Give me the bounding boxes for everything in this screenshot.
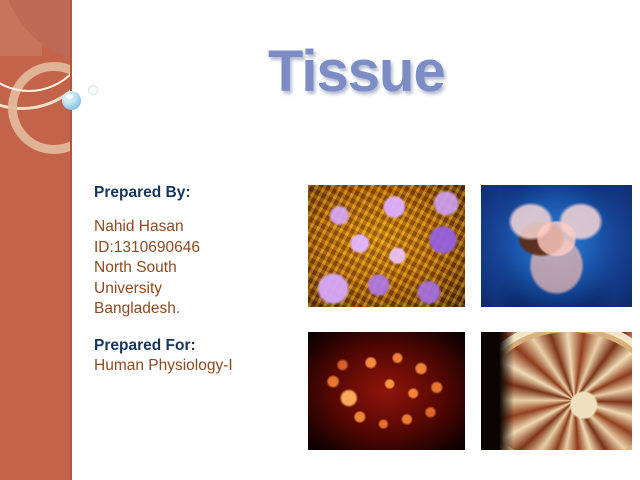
prepared-by-label: Prepared By:: [94, 182, 289, 203]
spacer: [94, 320, 289, 335]
author-id: ID:1310690646: [94, 238, 289, 258]
country-line: Bangladesh.: [94, 299, 289, 319]
thin-ring-arc-icon: [0, 0, 72, 92]
prepared-for-label: Prepared For:: [94, 335, 289, 356]
spacer: [94, 203, 289, 217]
image-grid: [308, 185, 632, 450]
band-edge-line: [70, 0, 72, 480]
image-content: [308, 185, 465, 307]
image-histology-cross-section-nerve-bundle: [481, 332, 632, 450]
sphere-highlight: [66, 94, 73, 99]
page-title: Tissue: [268, 42, 508, 103]
left-decorative-band: [0, 0, 72, 480]
image-anatomical-torso-organs-render: [481, 185, 632, 307]
image-red-blood-cells-dark-field: [308, 332, 465, 450]
image-content: [481, 332, 632, 450]
image-content: [481, 185, 632, 307]
university-line-2: University: [94, 279, 289, 299]
image-content: [308, 332, 465, 450]
university-line-1: North South: [94, 258, 289, 278]
image-fluorescence-stained-epithelial-cells: [308, 185, 465, 307]
author-name: Nahid Hasan: [94, 217, 289, 237]
slide-canvas: Tissue Prepared By: Nahid Hasan ID:13106…: [0, 0, 640, 480]
credits-text-block: Prepared By: Nahid Hasan ID:1310690646 N…: [94, 182, 289, 376]
course-name: Human Physiology-I: [94, 356, 289, 376]
outline-circle-icon: [88, 85, 98, 95]
